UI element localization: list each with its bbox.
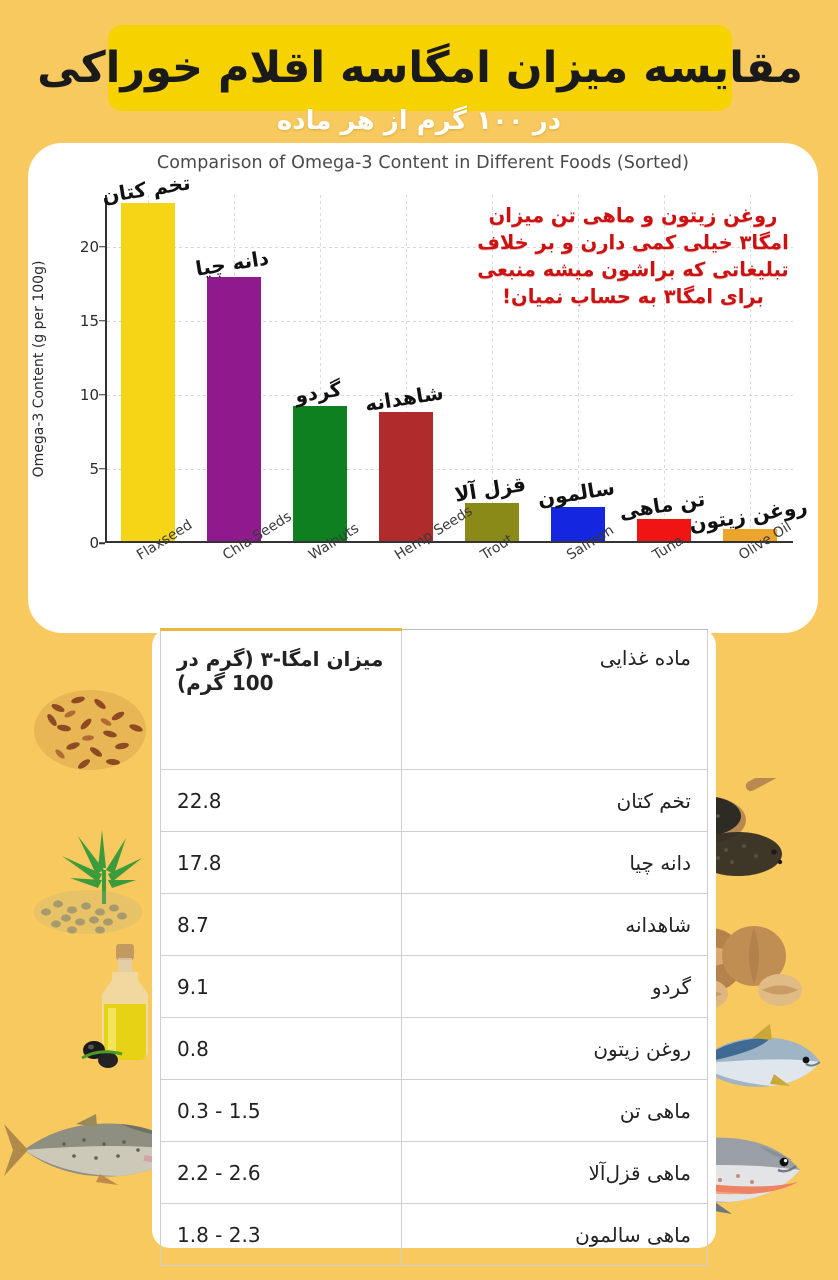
- table-cell-food: تخم کتان: [401, 770, 708, 832]
- table-cell-food: ماهی تن: [401, 1080, 708, 1142]
- y-tick-mark: [99, 246, 105, 248]
- bar-label-fa: تخم کتان: [100, 171, 192, 209]
- table-cell-value: 0.8: [161, 1018, 402, 1080]
- chart-title: Comparison of Omega-3 Content in Differe…: [28, 153, 818, 173]
- bar-chia-seeds[interactable]: دانه چیا: [207, 277, 260, 541]
- flaxseed-photo: [18, 668, 158, 788]
- table-cell-food: گردو: [401, 956, 708, 1018]
- chart-annotation: روغن زیتون و ماهی تن میزان امگا۳ خیلی کم…: [472, 203, 794, 311]
- y-tick-label: 20: [67, 238, 99, 256]
- y-tick-mark: [99, 542, 105, 544]
- table-row: شاهدانه8.7: [161, 894, 708, 956]
- bar-label-fa: سالمون: [536, 475, 617, 511]
- table-header-row: ماده غذایی میزان امگا-۳ (گرم در 100 گرم): [161, 630, 708, 770]
- table-cell-value: 1.8 - 2.3: [161, 1204, 402, 1266]
- table-cell-value: 22.8: [161, 770, 402, 832]
- y-tick-label: 15: [67, 312, 99, 330]
- omega3-table-card: ماده غذایی میزان امگا-۳ (گرم در 100 گرم)…: [152, 628, 716, 1248]
- bar-walnuts[interactable]: گردو: [293, 406, 346, 541]
- page-title: مقایسه میزان امگاسه اقلام خوراکی: [37, 47, 803, 90]
- y-tick-mark: [99, 468, 105, 470]
- table-row: ماهی تن0.3 - 1.5: [161, 1080, 708, 1142]
- infographic-root: مقایسه میزان امگاسه اقلام خوراکی در ۱۰۰ …: [0, 0, 838, 1280]
- y-tick-mark: [99, 320, 105, 322]
- bar-tuna[interactable]: تن ماهی: [637, 519, 690, 541]
- chart-card: Comparison of Omega-3 Content in Differe…: [28, 143, 818, 633]
- table-cell-food: دانه چیا: [401, 832, 708, 894]
- y-tick-label: 10: [67, 386, 99, 404]
- table-cell-food: شاهدانه: [401, 894, 708, 956]
- table-row: روغن زیتون0.8: [161, 1018, 708, 1080]
- table-cell-value: 8.7: [161, 894, 402, 956]
- table-cell-food: ماهی قزل‌آلا: [401, 1142, 708, 1204]
- table-header-value: میزان امگا-۳ (گرم در 100 گرم): [161, 630, 402, 770]
- table-cell-food: ماهی سالمون: [401, 1204, 708, 1266]
- table-row: ماهی سالمون1.8 - 2.3: [161, 1204, 708, 1266]
- table-row: دانه چیا17.8: [161, 832, 708, 894]
- bar-label-fa: شاهدانه: [363, 380, 445, 416]
- bar-label-fa: دانه چیا: [194, 246, 271, 281]
- table-row: گردو9.1: [161, 956, 708, 1018]
- y-tick-label: 0: [67, 534, 99, 552]
- x-axis-line: [105, 541, 793, 543]
- table-row: تخم کتان22.8: [161, 770, 708, 832]
- table-cell-food: روغن زیتون: [401, 1018, 708, 1080]
- table-cell-value: 0.3 - 1.5: [161, 1080, 402, 1142]
- title-band: مقایسه میزان امگاسه اقلام خوراکی: [108, 25, 732, 111]
- page-subtitle: در ۱۰۰ گرم از هر ماده: [0, 106, 838, 136]
- omega3-table: ماده غذایی میزان امگا-۳ (گرم در 100 گرم)…: [160, 628, 708, 1266]
- table-row: ماهی قزل‌آلا2.2 - 2.6: [161, 1142, 708, 1204]
- bar-label-fa: قزل آلا: [453, 471, 527, 506]
- y-axis-label: Omega-3 Content (g per 100g): [31, 261, 47, 478]
- table-body: تخم کتان22.8دانه چیا17.8شاهدانه8.7گردو9.…: [161, 770, 708, 1266]
- y-tick-label: 5: [67, 460, 99, 478]
- bar-flaxseed[interactable]: تخم کتان: [121, 203, 174, 541]
- table-cell-value: 17.8: [161, 832, 402, 894]
- y-tick-mark: [99, 394, 105, 396]
- table-header-food: ماده غذایی: [401, 630, 708, 770]
- table-cell-value: 9.1: [161, 956, 402, 1018]
- bar-label-fa: گردو: [293, 377, 343, 408]
- bar-hemp-seeds[interactable]: شاهدانه: [379, 412, 432, 541]
- table-cell-value: 2.2 - 2.6: [161, 1142, 402, 1204]
- hemp-photo: [10, 812, 165, 942]
